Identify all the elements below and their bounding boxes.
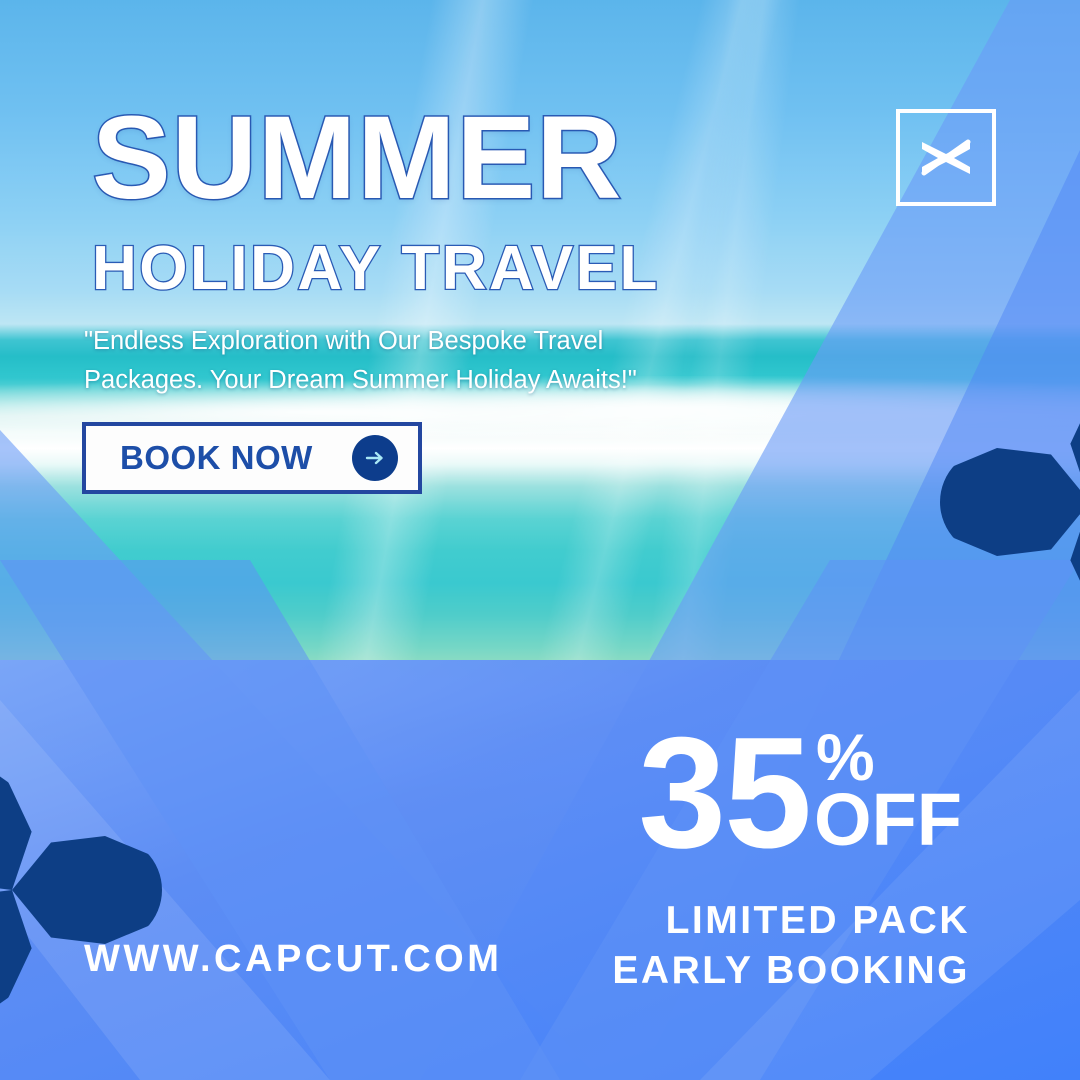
arrow-right-icon	[352, 435, 398, 481]
discount-suffix: % OFF	[816, 726, 962, 854]
poster-canvas: SUMMER HOLIDAY TRAVEL "Endless Explorati…	[0, 0, 1080, 1080]
discount-number: 35	[638, 726, 810, 862]
poster-content: SUMMER HOLIDAY TRAVEL "Endless Explorati…	[0, 0, 1080, 1080]
tagline-text: "Endless Exploration with Our Bespoke Tr…	[84, 322, 724, 400]
promo-line-2: EARLY BOOKING	[612, 946, 970, 996]
page-subtitle: HOLIDAY TRAVEL	[92, 233, 660, 304]
percent-symbol: %	[816, 732, 875, 783]
book-now-label: BOOK NOW	[120, 439, 313, 477]
discount-offer: 35 % OFF	[638, 726, 962, 862]
promo-line-1: LIMITED PACK	[612, 896, 970, 946]
page-title: SUMMER	[92, 104, 622, 213]
off-label: OFF	[814, 787, 962, 854]
book-now-button[interactable]: BOOK NOW	[82, 422, 422, 494]
promo-text: LIMITED PACK EARLY BOOKING	[612, 896, 970, 996]
website-url[interactable]: WWW.CAPCUT.COM	[84, 938, 502, 981]
capcut-logo-icon	[896, 109, 996, 206]
